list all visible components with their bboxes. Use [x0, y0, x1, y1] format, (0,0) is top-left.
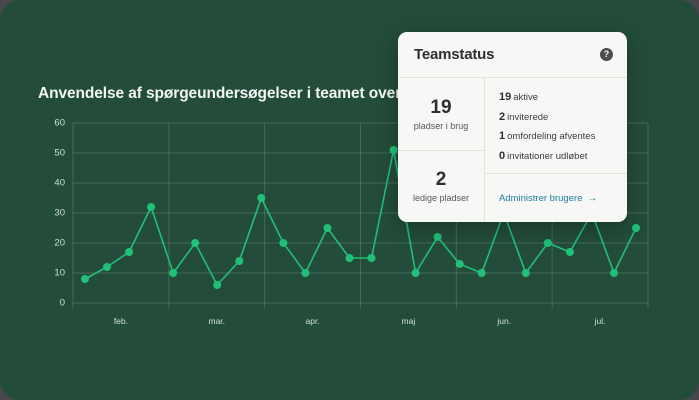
- chart-data-point[interactable]: [412, 269, 420, 277]
- page-title: Anvendelse af spørgeundersøgelser i team…: [38, 85, 401, 103]
- chart-data-point[interactable]: [169, 269, 177, 277]
- list-item: 2inviterede: [499, 111, 627, 123]
- detail-label: invitationer udløbet: [507, 151, 587, 162]
- app-root: 0102030405060 feb.mar.apr.majjun.jul. An…: [0, 0, 699, 400]
- y-axis-tick-label: 0: [39, 298, 65, 309]
- detail-column: 19aktive 2inviterede 1omfordeling afvent…: [484, 78, 627, 222]
- teamstatus-card: Teamstatus ? 19 pladser i brug 2 ledige …: [398, 32, 627, 222]
- manage-link-wrap: Administrer brugere→: [485, 174, 627, 222]
- arrow-right-icon: →: [587, 193, 597, 204]
- card-title: Teamstatus: [414, 46, 600, 63]
- stat-number: 2: [436, 169, 447, 191]
- detail-count: 19: [499, 91, 511, 103]
- y-axis-tick-label: 30: [39, 208, 65, 219]
- card-header: Teamstatus ?: [398, 32, 627, 78]
- x-axis-tick-label: maj: [402, 316, 416, 326]
- x-axis-tick-label: mar.: [208, 316, 225, 326]
- list-item: 1omfordeling afventes: [499, 130, 627, 142]
- chart-data-point[interactable]: [632, 224, 640, 232]
- detail-label: inviterede: [507, 112, 548, 123]
- y-axis-tick-label: 50: [39, 148, 65, 159]
- chart-data-point[interactable]: [81, 275, 89, 283]
- chart-data-point[interactable]: [279, 239, 287, 247]
- detail-label: omfordeling afventes: [507, 131, 595, 142]
- stat-seats-available: 2 ledige pladser: [398, 151, 484, 223]
- chart-data-point[interactable]: [125, 248, 133, 256]
- chart-data-point[interactable]: [544, 239, 552, 247]
- chart-data-point[interactable]: [390, 146, 398, 154]
- x-axis-tick-label: jun.: [497, 316, 511, 326]
- detail-count: 0: [499, 150, 505, 162]
- y-axis-tick-label: 60: [39, 118, 65, 129]
- chart-data-point[interactable]: [191, 239, 199, 247]
- chart-data-point[interactable]: [346, 254, 354, 262]
- chart-data-point[interactable]: [323, 224, 331, 232]
- question-mark-icon[interactable]: ?: [600, 48, 613, 61]
- manage-users-label: Administrer brugere: [499, 193, 582, 204]
- list-item: 0invitationer udløbet: [499, 150, 627, 162]
- chart-data-point[interactable]: [213, 281, 221, 289]
- chart-data-point[interactable]: [478, 269, 486, 277]
- chart-data-point[interactable]: [522, 269, 530, 277]
- stat-seats-in-use: 19 pladser i brug: [398, 78, 484, 151]
- chart-data-point[interactable]: [257, 194, 265, 202]
- x-axis-tick-label: feb.: [114, 316, 128, 326]
- y-axis-tick-label: 10: [39, 268, 65, 279]
- chart-data-point[interactable]: [301, 269, 309, 277]
- detail-list: 19aktive 2inviterede 1omfordeling afvent…: [485, 78, 627, 169]
- chart-data-point[interactable]: [434, 233, 442, 241]
- detail-count: 2: [499, 111, 505, 123]
- manage-users-link[interactable]: Administrer brugere→: [499, 193, 597, 204]
- x-axis-tick-label: jul.: [595, 316, 606, 326]
- y-axis-tick-label: 40: [39, 178, 65, 189]
- x-axis-tick-label: apr.: [305, 316, 319, 326]
- chart-data-point[interactable]: [235, 257, 243, 265]
- chart-data-point[interactable]: [610, 269, 618, 277]
- card-body: 19 pladser i brug 2 ledige pladser 19akt…: [398, 78, 627, 222]
- detail-count: 1: [499, 130, 505, 142]
- chart-data-point[interactable]: [368, 254, 376, 262]
- chart-data-point[interactable]: [147, 203, 155, 211]
- stat-caption: ledige pladser: [413, 193, 469, 203]
- stat-column: 19 pladser i brug 2 ledige pladser: [398, 78, 484, 222]
- stat-caption: pladser i brug: [414, 121, 469, 131]
- chart-data-point[interactable]: [456, 260, 464, 268]
- detail-label: aktive: [513, 92, 538, 103]
- stat-number: 19: [430, 97, 451, 119]
- list-item: 19aktive: [499, 91, 627, 103]
- chart-data-point[interactable]: [566, 248, 574, 256]
- y-axis-tick-label: 20: [39, 238, 65, 249]
- chart-data-point[interactable]: [103, 263, 111, 271]
